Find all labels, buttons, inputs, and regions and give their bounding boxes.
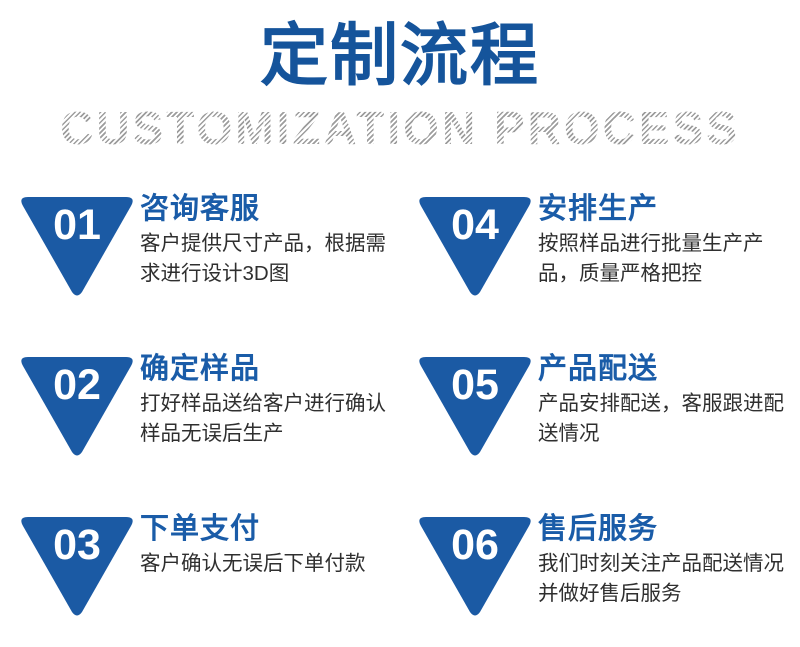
step-description: 客户确认无误后下单付款 <box>140 549 400 579</box>
step-description: 产品安排配送，客服跟进配送情况 <box>538 389 798 449</box>
step-description: 我们时刻关注产品配送情况并做好售后服务 <box>538 549 798 609</box>
step-description: 打好样品送给客户进行确认样品无误后生产 <box>140 389 400 449</box>
step-title: 产品配送 <box>538 351 798 387</box>
step-item-01: 01 咨询客服 客户提供尺寸产品，根据需求进行设计3D图 <box>8 185 403 340</box>
subtitle-container: CUSTOMIZATION PROCESS <box>0 100 800 160</box>
step-title: 确定样品 <box>140 351 400 387</box>
customization-process-infographic: 定制流程 CUSTOMIZATION PROCESS 01 咨询客服 客户提供尺… <box>0 0 800 647</box>
triangle-badge-icon: 06 <box>416 515 534 617</box>
step-item-02: 02 确定样品 打好样品送给客户进行确认样品无误后生产 <box>8 345 403 500</box>
step-description: 按照样品进行批量生产产品，质量严格把控 <box>538 229 798 289</box>
steps-grid: 01 咨询客服 客户提供尺寸产品，根据需求进行设计3D图 02 确定样品 打好样… <box>0 180 800 647</box>
triangle-badge-icon: 03 <box>18 515 136 617</box>
step-text: 售后服务 我们时刻关注产品配送情况并做好售后服务 <box>538 511 798 609</box>
step-description: 客户提供尺寸产品，根据需求进行设计3D图 <box>140 229 400 289</box>
step-title: 安排生产 <box>538 191 798 227</box>
step-text: 确定样品 打好样品送给客户进行确认样品无误后生产 <box>140 351 400 449</box>
page-title: 定制流程 <box>0 18 800 94</box>
step-text: 产品配送 产品安排配送，客服跟进配送情况 <box>538 351 798 449</box>
triangle-badge-icon: 02 <box>18 355 136 457</box>
step-item-04: 04 安排生产 按照样品进行批量生产产品，质量严格把控 <box>406 185 800 340</box>
page-subtitle: CUSTOMIZATION PROCESS <box>60 100 740 156</box>
triangle-badge-icon: 04 <box>416 195 534 297</box>
triangle-badge-icon: 01 <box>18 195 136 297</box>
step-text: 下单支付 客户确认无误后下单付款 <box>140 511 400 579</box>
step-title: 售后服务 <box>538 511 798 547</box>
step-item-06: 06 售后服务 我们时刻关注产品配送情况并做好售后服务 <box>406 505 800 647</box>
step-text: 安排生产 按照样品进行批量生产产品，质量严格把控 <box>538 191 798 289</box>
step-item-03: 03 下单支付 客户确认无误后下单付款 <box>8 505 403 647</box>
step-title: 下单支付 <box>140 511 400 547</box>
triangle-badge-icon: 05 <box>416 355 534 457</box>
step-text: 咨询客服 客户提供尺寸产品，根据需求进行设计3D图 <box>140 191 400 289</box>
header: 定制流程 CUSTOMIZATION PROCESS <box>0 0 800 170</box>
step-item-05: 05 产品配送 产品安排配送，客服跟进配送情况 <box>406 345 800 500</box>
step-title: 咨询客服 <box>140 191 400 227</box>
